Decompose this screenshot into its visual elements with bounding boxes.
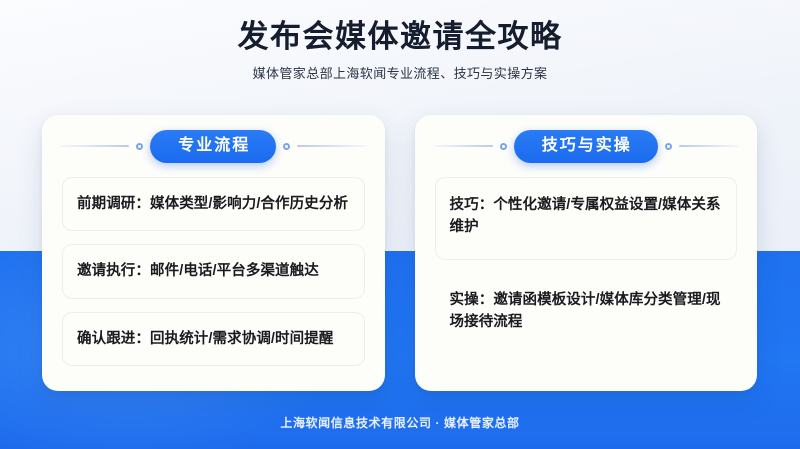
list-item: 前期调研：媒体类型/影响力/合作历史分析	[62, 177, 365, 231]
list-item-detail: 媒体类型/影响力/合作历史分析	[150, 196, 348, 212]
footer-text: 上海软闻信息技术有限公司 · 媒体管家总部	[280, 416, 519, 430]
badge-tips: 技巧与实操	[514, 130, 658, 163]
list-item: 邀请执行：邮件/电话/平台多渠道触达	[62, 244, 365, 298]
list-item-text: 前期调研：媒体类型/影响力/合作历史分析	[77, 193, 350, 215]
page-subtitle: 媒体管家总部上海软闻专业流程、技巧与实操方案	[0, 63, 800, 82]
card-process: 专业流程 前期调研：媒体类型/影响力/合作历史分析 邀请执行：邮件/电话/平台多…	[42, 115, 385, 391]
list-item-detail: 邮件/电话/平台多渠道触达	[150, 263, 319, 279]
list-item: 技巧：个性化邀请/专属权益设置/媒体关系维护	[435, 177, 738, 260]
decorative-dot-left	[500, 143, 507, 150]
page-title: 发布会媒体邀请全攻略	[0, 18, 800, 57]
decorative-line-right	[297, 145, 366, 147]
list-item-lead: 实操：	[450, 292, 494, 308]
items-tips: 技巧：个性化邀请/专属权益设置/媒体关系维护 实操：邀请函模板设计/媒体库分类管…	[433, 177, 740, 349]
decorative-dot-right	[283, 143, 290, 150]
decorative-line-right	[679, 145, 739, 147]
list-item-text: 邀请执行：邮件/电话/平台多渠道触达	[77, 260, 350, 282]
list-item-lead: 邀请执行：	[77, 263, 150, 279]
badge-process: 专业流程	[150, 130, 276, 163]
decorative-line-left	[60, 145, 129, 147]
items-process: 前期调研：媒体类型/影响力/合作历史分析 邀请执行：邮件/电话/平台多渠道触达 …	[60, 177, 367, 366]
list-item-text: 实操：邀请函模板设计/媒体库分类管理/现场接待流程	[450, 289, 723, 334]
list-item-lead: 技巧：	[450, 197, 494, 213]
slide-root: 发布会媒体邀请全攻略 媒体管家总部上海软闻专业流程、技巧与实操方案 专业流程 前…	[0, 0, 800, 449]
list-item-text: 确认跟进：回执统计/需求协调/时间提醒	[77, 328, 350, 350]
card-tips: 技巧与实操 技巧：个性化邀请/专属权益设置/媒体关系维护 实操：邀请函模板设计/…	[415, 115, 758, 391]
decorative-line-left	[433, 145, 493, 147]
footer: 上海软闻信息技术有限公司 · 媒体管家总部	[0, 414, 800, 431]
cards-container: 专业流程 前期调研：媒体类型/影响力/合作历史分析 邀请执行：邮件/电话/平台多…	[42, 115, 757, 391]
list-item-text: 技巧：个性化邀请/专属权益设置/媒体关系维护	[450, 194, 723, 239]
badge-row-process: 专业流程	[60, 115, 367, 177]
header: 发布会媒体邀请全攻略 媒体管家总部上海软闻专业流程、技巧与实操方案	[0, 18, 800, 82]
list-item-lead: 确认跟进：	[77, 331, 150, 347]
decorative-dot-left	[136, 143, 143, 150]
list-item-detail: 回执统计/需求协调/时间提醒	[150, 331, 333, 347]
list-item: 确认跟进：回执统计/需求协调/时间提醒	[62, 312, 365, 366]
list-item: 实操：邀请函模板设计/媒体库分类管理/现场接待流程	[435, 284, 738, 349]
list-item-lead: 前期调研：	[77, 196, 150, 212]
badge-row-tips: 技巧与实操	[433, 115, 740, 177]
decorative-dot-right	[665, 143, 672, 150]
